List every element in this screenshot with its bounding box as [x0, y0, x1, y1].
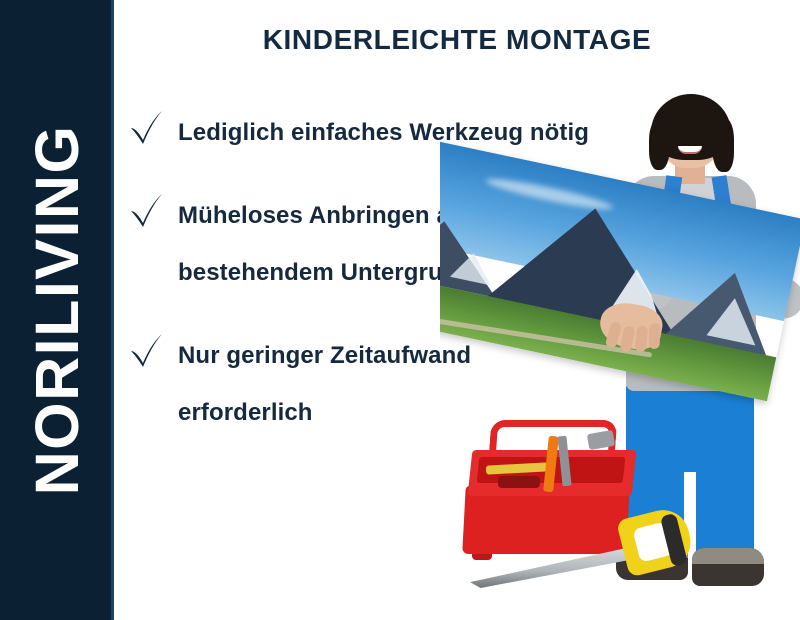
person-hand-right	[597, 299, 666, 353]
person-hair-right-strand	[712, 118, 734, 172]
brand-sidebar: NORILIVING	[0, 0, 114, 620]
person-finger	[635, 325, 649, 352]
person-shoe-left	[616, 542, 688, 580]
canvas-meadow	[716, 240, 800, 284]
canvas-snow-patch	[706, 292, 764, 345]
page-title: KINDERLEICHTE MONTAGE	[114, 24, 800, 56]
person-smile	[678, 146, 702, 154]
person-finger	[649, 323, 661, 349]
person-overall-strap-right	[712, 175, 736, 235]
canvas-mountain-peak	[716, 240, 800, 284]
person-torso	[626, 176, 756, 391]
hand-saw-handle-hole	[633, 519, 682, 562]
check-icon	[128, 189, 166, 233]
list-item-label: Lediglich einfaches Werkzeug nötig	[178, 104, 589, 161]
person-arm-right	[733, 270, 800, 321]
canvas-sky	[716, 240, 800, 284]
brand-name: NORILIVING	[22, 125, 92, 496]
hand-saw-blade	[470, 546, 646, 588]
person-trousers	[626, 380, 754, 560]
check-icon	[128, 106, 166, 150]
person-shoe-right	[692, 548, 764, 586]
feature-list: Lediglich einfaches Werkzeug nötig Mühel…	[128, 104, 598, 467]
person-hair-left-strand	[649, 120, 670, 170]
list-item: Nur geringer Zeitaufwand erforderlich	[128, 327, 598, 441]
canvas-mountain-right	[662, 261, 784, 360]
list-item-label: Nur geringer Zeitaufwand erforderlich	[178, 327, 598, 441]
person-neck	[675, 158, 705, 184]
canvas-snow-patch	[716, 240, 800, 284]
toolbox-tool-pliers	[498, 476, 540, 488]
canvas-path	[716, 240, 800, 284]
list-item: Müheloses Anbringen auf bestehendem Unte…	[128, 187, 598, 301]
promo-banner: NORILIVING KINDERLEICHTE MONTAGE Ledigli…	[0, 0, 800, 620]
canvas-print-secondary	[672, 240, 800, 489]
list-item-label: Müheloses Anbringen auf bestehendem Unte…	[178, 187, 598, 301]
canvas-snow-patch	[605, 265, 673, 330]
hand-saw-handle	[616, 505, 696, 578]
person-finger	[605, 321, 623, 349]
person-face	[658, 106, 722, 168]
toolbox-foot-right	[600, 548, 620, 560]
person-trousers-gap	[684, 472, 696, 564]
person-shoe-right-toe	[692, 548, 764, 564]
person-overall-strap-left	[658, 175, 682, 239]
brand-sidebar-accent-line	[111, 0, 114, 620]
canvas-snow-patch	[716, 240, 800, 284]
toolbox-foot-left	[472, 548, 492, 560]
person-shirt	[672, 178, 718, 236]
person-hair	[651, 94, 731, 160]
person-finger	[619, 325, 635, 353]
person-shoe-left-toe	[616, 542, 688, 558]
list-item: Lediglich einfaches Werkzeug nötig	[128, 104, 598, 161]
toolbox-body	[462, 486, 630, 554]
check-icon	[128, 329, 166, 373]
hand-saw-grip	[660, 513, 688, 567]
